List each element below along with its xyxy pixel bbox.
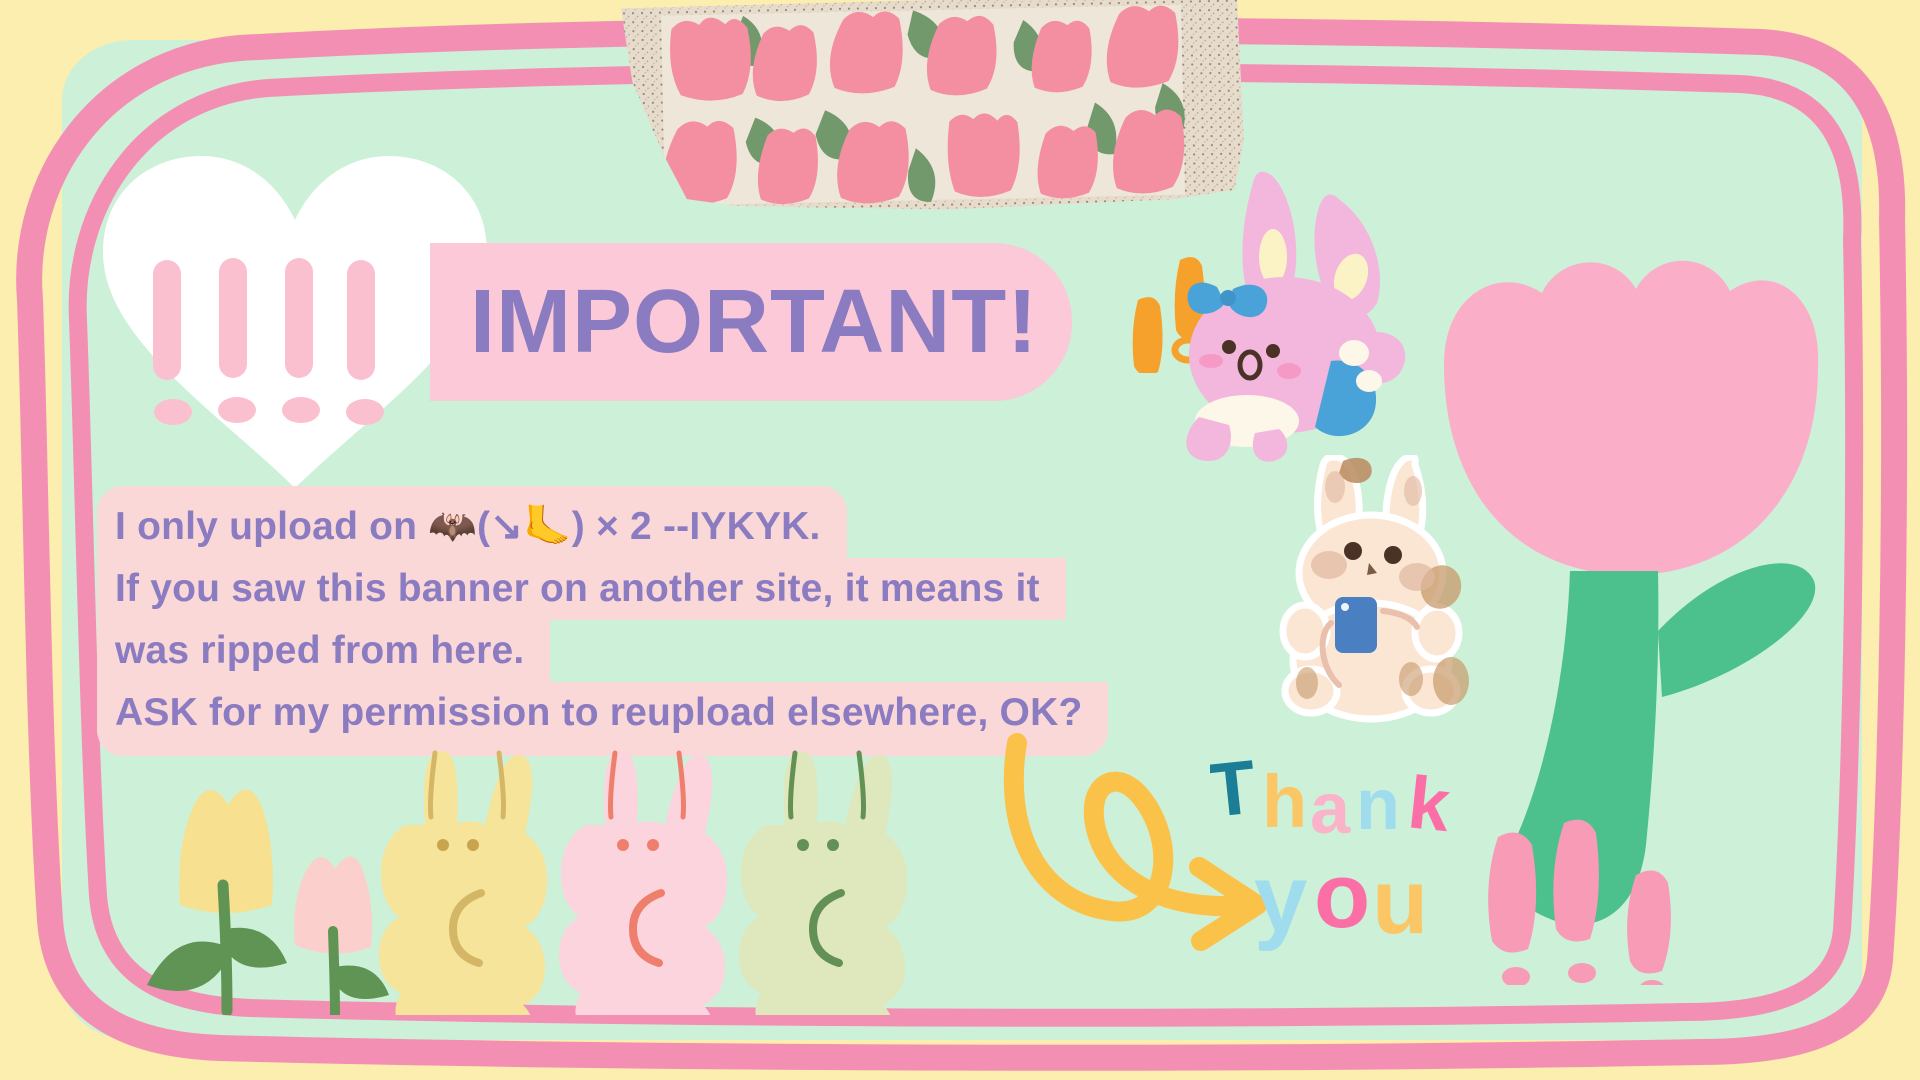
thankyou-letter-n: n	[1356, 765, 1400, 845]
message-line-2: If you saw this banner on another site, …	[97, 558, 1066, 620]
big-tulip	[1430, 245, 1830, 985]
thankyou-letter-a: a	[1310, 769, 1351, 849]
tulip-washi-tape	[613, 0, 1247, 221]
thankyou-letter-h: h	[1262, 760, 1307, 843]
small-tulip-pink	[294, 856, 389, 1015]
thankyou-letter-T: T	[1210, 755, 1260, 834]
thankyou-letter-u: u	[1372, 851, 1428, 953]
message-line-3: was ripped from here.	[97, 620, 550, 682]
small-tulip-yellow	[147, 789, 287, 1011]
thankyou-letter-y: y	[1254, 845, 1307, 952]
phone-icon	[1335, 597, 1377, 653]
thankyou-letter-o: o	[1314, 845, 1370, 947]
gummy-bunny-yellow	[379, 751, 547, 1015]
cream-bunny-with-phone	[1265, 455, 1485, 725]
pink-bunny-with-bow	[1155, 165, 1435, 465]
garden-decorations	[95, 745, 995, 1015]
gummy-bunny-pink	[559, 751, 727, 1015]
message-line-1: I only upload on 🦇(↘🦶) × 2 --IYKYK.	[97, 486, 847, 558]
gummy-bunny-green	[739, 751, 907, 1015]
page-title: IMPORTANT!	[470, 262, 1090, 382]
important-notice-banner: IMPORTANT! I only upload on 🦇(↘🦶) × 2 --…	[0, 0, 1920, 1080]
